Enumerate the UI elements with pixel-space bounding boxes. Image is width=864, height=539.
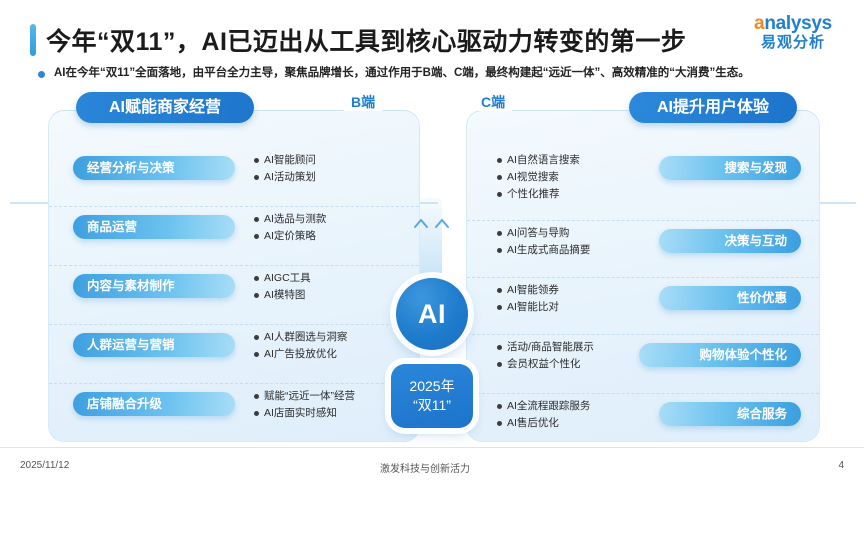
item-list: AI人群圈选与洞察 AI广告投放优化 <box>254 329 347 363</box>
list-item-label: AI广告投放优化 <box>264 346 337 363</box>
list-item-label: AI活动策划 <box>264 169 316 186</box>
list-item: AI问答与导购 <box>497 225 590 242</box>
center-trunk <box>420 198 442 280</box>
list-item-label: AI店面实时感知 <box>264 405 337 422</box>
bullet-icon <box>497 158 502 163</box>
table-row: 性价优惠 AI智能领券 AI智能比对 <box>467 277 819 334</box>
list-item: AI人群圈选与洞察 <box>254 329 347 346</box>
logo-letter-a: a <box>754 13 764 34</box>
bullet-icon <box>254 352 259 357</box>
list-item-label: AI智能领券 <box>507 282 559 299</box>
bullet-icon <box>254 335 259 340</box>
up-arrows <box>410 216 454 232</box>
year-badge[interactable]: 2025年 “双11” <box>391 364 473 428</box>
title-accent-bar <box>30 24 36 56</box>
year-line-2: “双11” <box>413 396 451 415</box>
table-row: 内容与素材制作 AIGC工具 AI模特图 <box>49 265 419 324</box>
list-item: 赋能“远近一体”经营 <box>254 388 355 405</box>
list-item-label: 个性化推荐 <box>507 186 560 203</box>
item-list: 赋能“远近一体”经营 AI店面实时感知 <box>254 388 355 422</box>
list-item: AI选品与测款 <box>254 211 326 228</box>
list-item-label: AI人群圈选与洞察 <box>264 329 347 346</box>
bullet-icon <box>497 288 502 293</box>
list-item-label: AI问答与导购 <box>507 225 569 242</box>
list-item-label: AI智能比对 <box>507 299 559 316</box>
list-item-label: 活动/商品智能展示 <box>507 339 594 356</box>
list-item-label: AI视觉搜索 <box>507 169 559 186</box>
ai-core-circle[interactable]: AI <box>396 278 468 350</box>
list-item-label: AI售后优化 <box>507 415 559 432</box>
item-list: AI智能领券 AI智能比对 <box>497 282 559 316</box>
left-panel-header-pill[interactable]: AI赋能商家经营 <box>76 92 254 123</box>
bullet-icon <box>254 175 259 180</box>
table-row: 店铺融合升级 赋能“远近一体”经营 AI店面实时感知 <box>49 383 419 442</box>
bullet-icon <box>254 293 259 298</box>
list-item: AI定价策略 <box>254 228 326 245</box>
item-list: AI自然语言搜索 AI视觉搜索 个性化推荐 <box>497 152 580 203</box>
table-row: 经营分析与决策 AI智能顾问 AI活动策划 <box>49 148 419 206</box>
list-item: AI智能顾问 <box>254 152 316 169</box>
list-item: AI售后优化 <box>497 415 590 432</box>
list-item: AI广告投放优化 <box>254 346 347 363</box>
list-item: 活动/商品智能展示 <box>497 339 594 356</box>
logo-subtitle: 易观分析 <box>740 34 846 52</box>
category-pill[interactable]: 决策与互动 <box>659 229 801 253</box>
table-row: 决策与互动 AI问答与导购 AI生成式商品摘要 <box>467 220 819 277</box>
bullet-icon <box>254 394 259 399</box>
bullet-icon <box>497 175 502 180</box>
bullet-icon <box>254 234 259 239</box>
list-item-label: 会员权益个性化 <box>507 356 581 373</box>
item-list: AIGC工具 AI模特图 <box>254 270 311 304</box>
logo-wordmark: analysys <box>740 14 846 34</box>
list-item: AI活动策划 <box>254 169 316 186</box>
table-row: 人群运营与营销 AI人群圈选与洞察 AI广告投放优化 <box>49 324 419 383</box>
list-item: AI全流程跟踪服务 <box>497 398 590 415</box>
category-pill[interactable]: 内容与素材制作 <box>73 274 235 298</box>
footer-date: 2025/11/12 <box>20 460 69 471</box>
category-pill[interactable]: 店铺融合升级 <box>73 392 235 416</box>
category-pill[interactable]: 搜索与发现 <box>659 156 801 180</box>
year-line-1: 2025年 <box>409 377 454 396</box>
list-item: AI自然语言搜索 <box>497 152 580 169</box>
list-item-label: AI生成式商品摘要 <box>507 242 590 259</box>
right-panel-header-pill[interactable]: AI提升用户体验 <box>629 92 797 123</box>
analysys-logo: analysys 易观分析 <box>740 14 846 52</box>
category-pill[interactable]: 经营分析与决策 <box>73 156 235 180</box>
list-item: 个性化推荐 <box>497 186 580 203</box>
side-label-c: C端 <box>474 93 512 111</box>
item-list: AI全流程跟踪服务 AI售后优化 <box>497 398 590 432</box>
subtitle-bullet: AI在今年“双11”全面落地，由平台全力主导，聚焦品牌增长，通过作用于B端、C端… <box>38 66 846 81</box>
list-item-label: AI选品与测款 <box>264 211 326 228</box>
list-item-label: AI智能顾问 <box>264 152 316 169</box>
bullet-icon <box>497 305 502 310</box>
slide: 今年“双11”，AI已迈出从工具到核心驱动力转变的第一步 analysys 易观… <box>0 0 864 486</box>
right-panel-rows: 搜索与发现 AI自然语言搜索 AI视觉搜索 个性化推荐 决策与互动 AI问答与导… <box>467 148 819 452</box>
list-item-label: AI自然语言搜索 <box>507 152 580 169</box>
bullet-icon <box>254 158 259 163</box>
table-row: 购物体验个性化 活动/商品智能展示 会员权益个性化 <box>467 334 819 393</box>
table-row: 商品运营 AI选品与测款 AI定价策略 <box>49 206 419 265</box>
side-label-b: B端 <box>344 93 382 111</box>
ai-core-label: AI <box>418 299 446 330</box>
list-item: AI生成式商品摘要 <box>497 242 590 259</box>
list-item: AI模特图 <box>254 287 311 304</box>
bullet-icon <box>254 411 259 416</box>
bullet-icon <box>254 217 259 222</box>
bullet-icon <box>254 276 259 281</box>
bullet-icon <box>497 231 502 236</box>
category-pill[interactable]: 商品运营 <box>73 215 235 239</box>
list-item-label: AI模特图 <box>264 287 305 304</box>
item-list: 活动/商品智能展示 会员权益个性化 <box>497 339 594 373</box>
subtitle-text: AI在今年“双11”全面落地，由平台全力主导，聚焦品牌增长，通过作用于B端、C端… <box>54 66 750 81</box>
bullet-icon <box>497 421 502 426</box>
logo-wordmark-rest: nalysys <box>764 13 832 34</box>
list-item: AI店面实时感知 <box>254 405 355 422</box>
table-row: 综合服务 AI全流程跟踪服务 AI售后优化 <box>467 393 819 452</box>
list-item-label: AIGC工具 <box>264 270 311 287</box>
title-text: 今年“双11”，AI已迈出从工具到核心驱动力转变的第一步 <box>46 22 686 58</box>
left-panel-rows: 经营分析与决策 AI智能顾问 AI活动策划 商品运营 AI选品与测款 AI定价策… <box>49 148 419 442</box>
category-pill[interactable]: 综合服务 <box>659 402 801 426</box>
bullet-icon <box>497 404 502 409</box>
list-item-label: AI全流程跟踪服务 <box>507 398 590 415</box>
left-panel: 经营分析与决策 AI智能顾问 AI活动策划 商品运营 AI选品与测款 AI定价策… <box>48 110 420 442</box>
chevron-up-icon <box>410 216 454 232</box>
list-item: AI视觉搜索 <box>497 169 580 186</box>
category-pill[interactable]: 性价优惠 <box>659 286 801 310</box>
footer-page-number: 4 <box>838 460 844 471</box>
list-item-label: AI定价策略 <box>264 228 316 245</box>
list-item: 会员权益个性化 <box>497 356 594 373</box>
list-item: AI智能比对 <box>497 299 559 316</box>
list-item-label: 赋能“远近一体”经营 <box>264 388 355 405</box>
bullet-dot-icon <box>38 71 45 78</box>
bullet-icon <box>497 248 502 253</box>
bullet-icon <box>497 362 502 367</box>
bullet-icon <box>497 192 502 197</box>
diagram-board: B端 C端 AI赋能商家经营 AI提升用户体验 经营分析与决策 AI智能顾问 A… <box>0 92 864 447</box>
list-item: AIGC工具 <box>254 270 311 287</box>
bullet-icon <box>497 345 502 350</box>
item-list: AI选品与测款 AI定价策略 <box>254 211 326 245</box>
category-pill[interactable]: 人群运营与营销 <box>73 333 235 357</box>
item-list: AI智能顾问 AI活动策划 <box>254 152 316 186</box>
item-list: AI问答与导购 AI生成式商品摘要 <box>497 225 590 259</box>
page-title: 今年“双11”，AI已迈出从工具到核心驱动力转变的第一步 <box>30 22 686 58</box>
right-panel: 搜索与发现 AI自然语言搜索 AI视觉搜索 个性化推荐 决策与互动 AI问答与导… <box>466 110 820 442</box>
table-row: 搜索与发现 AI自然语言搜索 AI视觉搜索 个性化推荐 <box>467 148 819 220</box>
category-pill[interactable]: 购物体验个性化 <box>639 343 801 367</box>
list-item: AI智能领券 <box>497 282 559 299</box>
